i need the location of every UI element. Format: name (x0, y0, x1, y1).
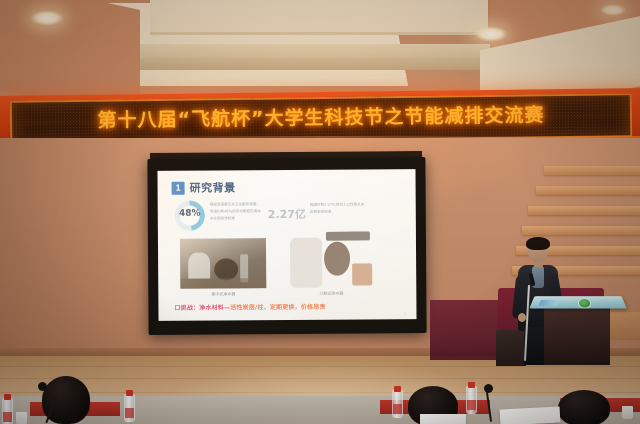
presentation-hall-photo: 第十八届“飞航杯”大学生科技节之节能减排交流赛 1 研究背景 48% 根据全国第… (0, 0, 640, 424)
lectern-green-logo-icon (578, 298, 592, 308)
ceiling (0, 0, 640, 96)
slide-photo-distributed (288, 231, 374, 288)
note-highlight: 活性炭层/柱，定期更换，价格昂贵 (230, 304, 325, 312)
photo-caption-left: 集中式净水器 (180, 291, 266, 298)
microphone-head-icon (38, 382, 47, 391)
paper-cup (16, 412, 27, 424)
glasses-icon (529, 248, 547, 253)
stat-secondary-value: 2.27亿 (268, 206, 306, 222)
wall-left-shadow (0, 138, 150, 358)
slide-title: 研究背景 (190, 179, 236, 195)
donut-value-label: 48% (176, 209, 204, 219)
photo-caption-right: 分散式净水器 (288, 290, 374, 297)
slide-bottom-note: 口挑战：净水材料—活性炭层/柱，定期更换，价格昂贵 (174, 301, 404, 312)
slide-section-badge: 1 (172, 181, 185, 194)
stat-secondary-description: 我国仍有2.27亿农村人口饮用水未达到安全标准 (310, 201, 366, 215)
ceiling-inner-panel (150, 0, 488, 35)
paper-documents (500, 406, 561, 424)
water-bottle (392, 390, 403, 418)
lectern (540, 294, 618, 366)
downlight-icon (474, 26, 508, 42)
ceiling-left-soffit (0, 0, 140, 96)
lectern-blue-logo-icon (539, 300, 559, 306)
projection-screen: 1 研究背景 48% 根据全国第五次卫生服务调查，全国约有48%的农村家庭饮用水… (147, 157, 426, 335)
downlight-icon (30, 10, 64, 26)
water-bottle (124, 394, 135, 422)
slide-page-number: 1 (404, 311, 406, 316)
presentation-slide: 1 研究背景 48% 根据全国第五次卫生服务调查，全国约有48%的农村家庭饮用水… (157, 169, 416, 321)
slide-photo-centralized (180, 238, 266, 289)
microphone-head-icon (484, 384, 493, 393)
downlight-icon (600, 4, 626, 16)
audience-head (558, 390, 610, 424)
paper-cup (622, 406, 633, 419)
note-prefix: 口挑战：净水材料— (174, 304, 230, 311)
slide-title-row: 1 研究背景 (172, 179, 236, 195)
ceiling-beam-lower (96, 58, 541, 70)
water-bottle (466, 386, 477, 414)
paper-documents (420, 414, 466, 424)
lectern-top-surface (529, 296, 627, 308)
water-bottle (2, 398, 13, 424)
stat-primary-description: 根据全国第五次卫生服务调查，全国约有48%的农村家庭饮用水未达到安全标准 (210, 201, 262, 222)
